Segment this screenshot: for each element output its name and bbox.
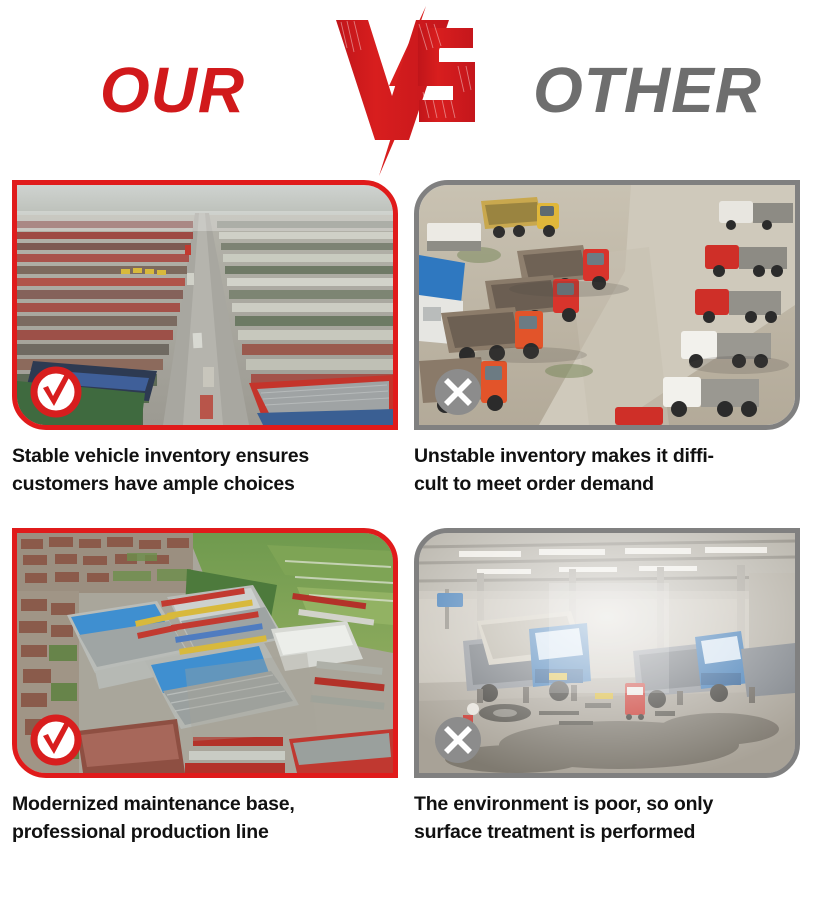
comparison-cell-our-facility: Modernized maintenance base, professiona…	[12, 528, 398, 846]
caption-other-inventory: Unstable inventory makes it diffi- cult …	[414, 443, 800, 498]
caption-line: surface treatment is performed	[414, 819, 800, 847]
check-badge	[30, 366, 82, 418]
comparison-row: Stable vehicle inventory ensures custome…	[12, 180, 808, 498]
vs-logo	[323, 0, 498, 180]
caption-line: Stable vehicle inventory ensures	[12, 443, 398, 471]
caption-our-inventory: Stable vehicle inventory ensures custome…	[12, 443, 398, 498]
caption-line: cult to meet order demand	[414, 471, 800, 499]
comparison-infographic: OUR	[0, 0, 820, 910]
image-card	[414, 180, 800, 430]
cross-badge	[432, 714, 484, 766]
image-card	[12, 180, 398, 430]
image-card	[414, 528, 800, 778]
caption-line: professional production line	[12, 819, 398, 847]
header: OUR	[0, 0, 820, 180]
cross-badge	[432, 366, 484, 418]
caption-other-facility: The environment is poor, so only surface…	[414, 791, 800, 846]
caption-our-facility: Modernized maintenance base, professiona…	[12, 791, 398, 846]
caption-line: customers have ample choices	[12, 471, 398, 499]
header-other-label: OTHER	[498, 58, 798, 122]
caption-line: The environment is poor, so only	[414, 791, 800, 819]
image-card	[12, 528, 398, 778]
comparison-cell-other-facility: The environment is poor, so only surface…	[414, 528, 800, 846]
comparison-row: Modernized maintenance base, professiona…	[12, 528, 808, 846]
comparison-cell-our-inventory: Stable vehicle inventory ensures custome…	[12, 180, 398, 498]
header-our-label: OUR	[23, 58, 323, 122]
comparison-grid: Stable vehicle inventory ensures custome…	[0, 180, 820, 847]
caption-line: Modernized maintenance base,	[12, 791, 398, 819]
comparison-cell-other-inventory: Unstable inventory makes it diffi- cult …	[414, 180, 800, 498]
check-badge	[30, 714, 82, 766]
caption-line: Unstable inventory makes it diffi-	[414, 443, 800, 471]
